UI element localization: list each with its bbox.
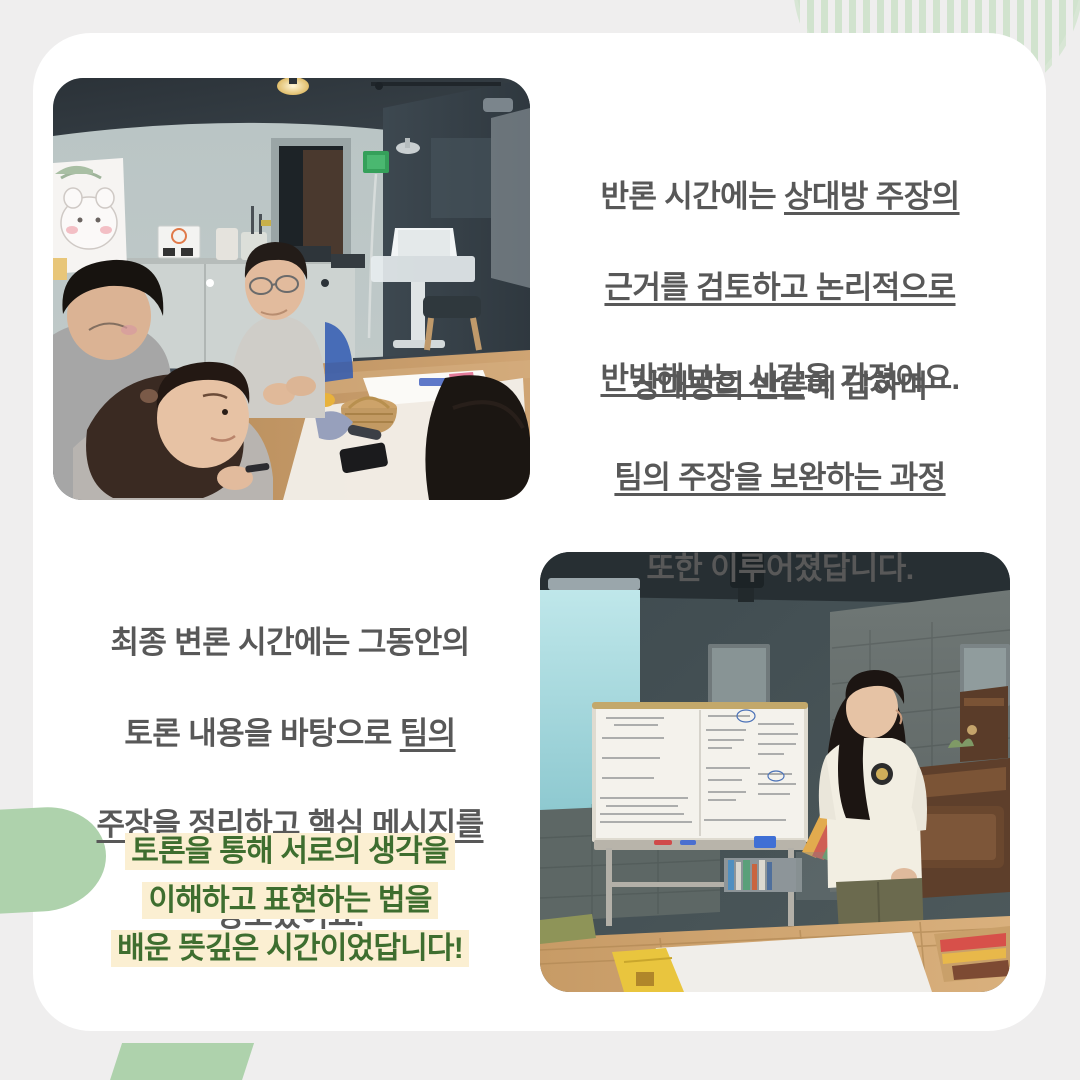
- paragraph-1-line-1: 반론 시간에는 상대방 주장의: [540, 174, 1020, 220]
- paragraph-4-line-3: 배운 뜻깊은 시간이었답니다!: [40, 925, 540, 974]
- paragraph-closing-highlighted: 토론을 통해 서로의 생각을 이해하고 표현하는 법을 배운 뜻깊은 시간이었답…: [40, 828, 540, 974]
- paragraph-2-line-3: 또한 이루어졌답니다.: [540, 546, 1020, 592]
- paragraph-2-line-1: 상대방의 반론에 답하며: [540, 364, 1020, 410]
- paragraph-1-line-2: 근거를 검토하고 논리적으로: [540, 265, 1020, 311]
- paragraph-4-line-2: 이해하고 표현하는 법을: [40, 877, 540, 926]
- poster-canvas: 반론 시간에는 상대방 주장의 근거를 검토하고 논리적으로 반박해보는 시간을…: [0, 0, 1080, 1080]
- paragraph-answering-rebuttal: 상대방의 반론에 답하며 팀의 주장을 보완하는 과정 또한 이루어졌답니다.: [540, 318, 1020, 637]
- paragraph-4-line-1: 토론을 통해 서로의 생각을: [40, 828, 540, 877]
- green-leaf-bottom-decoration-icon: [102, 1043, 254, 1080]
- photo-students-discussing: [53, 78, 530, 500]
- paragraph-3-line-2: 토론 내용을 바탕으로 팀의: [40, 711, 540, 757]
- paragraph-2-line-2: 팀의 주장을 보완하는 과정: [540, 455, 1020, 501]
- paragraph-3-line-1: 최종 변론 시간에는 그동안의: [40, 620, 540, 666]
